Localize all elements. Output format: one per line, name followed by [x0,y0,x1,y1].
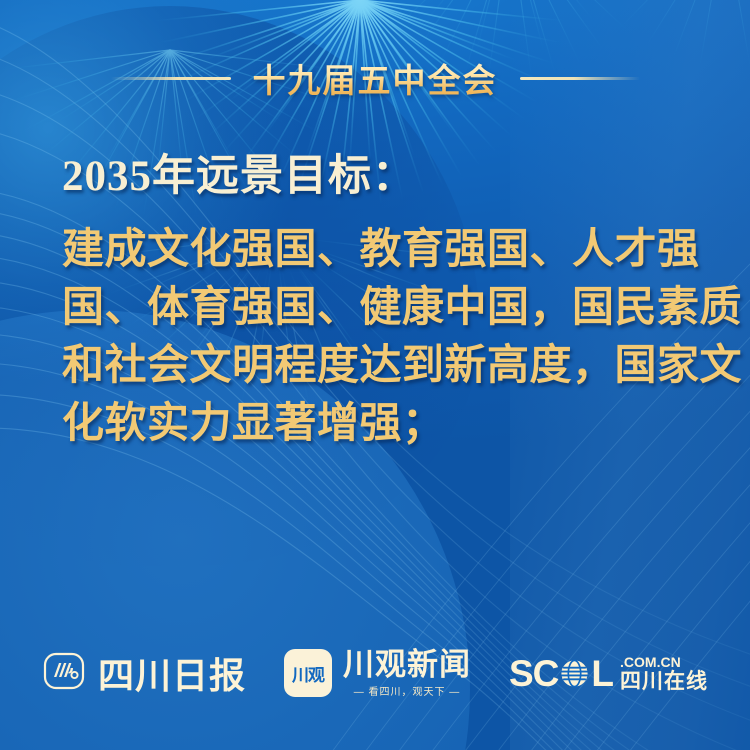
body-text-block: 建成文化强国、教育强国、人才强 国、体育强国、健康中国，国民素质 和社会文明程度… [62,229,700,445]
body-line: 和社会文明程度达到新高度，国家文 [62,345,700,387]
logo-scol: SC L .COM.CN [509,655,708,692]
chuanguan-tagline: — 看四川，观天下 — [354,683,461,698]
footer-logo-bar: 四川日报 川观 川观新闻 — 看四川，观天下 — SC [0,642,750,704]
logo-chuanguan-news: 川观 川观新闻 — 看四川，观天下 — [284,649,471,698]
divider-line-left-icon [111,77,231,80]
header-title: 十九届五中全会 [253,54,498,102]
body-line: 国、体育强国、健康中国，国民素质 [62,287,700,329]
scol-chinese-label: 四川在线 [620,671,708,692]
scol-wordmark: SC L [509,655,613,692]
body-line: 建成文化强国、教育强国、人才强 [62,229,700,271]
chuanguan-badge: 川观 [284,649,332,697]
scol-domain-label: .COM.CN [620,655,708,669]
scol-letters-left: SC [509,655,558,692]
poster-canvas: 十九届五中全会 2035年远景目标： 建成文化强国、教育强国、人才强 国、体育强… [0,0,750,750]
poster-header: 十九届五中全会 [0,56,750,100]
chuanguan-news-label: 川观新闻 [343,649,471,680]
sichuan-daily-mark-icon [42,651,86,696]
poster-content: 2035年远景目标： 建成文化强国、教育强国、人才强 国、体育强国、健康中国，国… [62,152,700,445]
scol-letters-right: L [591,655,613,692]
globe-icon [559,658,590,689]
logo-sichuan-daily: 四川日报 [42,647,246,699]
scol-text-stack: .COM.CN 四川在线 [620,655,708,692]
chuanguan-text-stack: 川观新闻 — 看四川，观天下 — [343,649,471,698]
body-line: 化软实力显著增强； [62,403,700,445]
sichuan-daily-label: 四川日报 [98,647,246,699]
divider-line-right-icon [520,77,640,80]
page-title: 2035年远景目标： [62,152,700,203]
